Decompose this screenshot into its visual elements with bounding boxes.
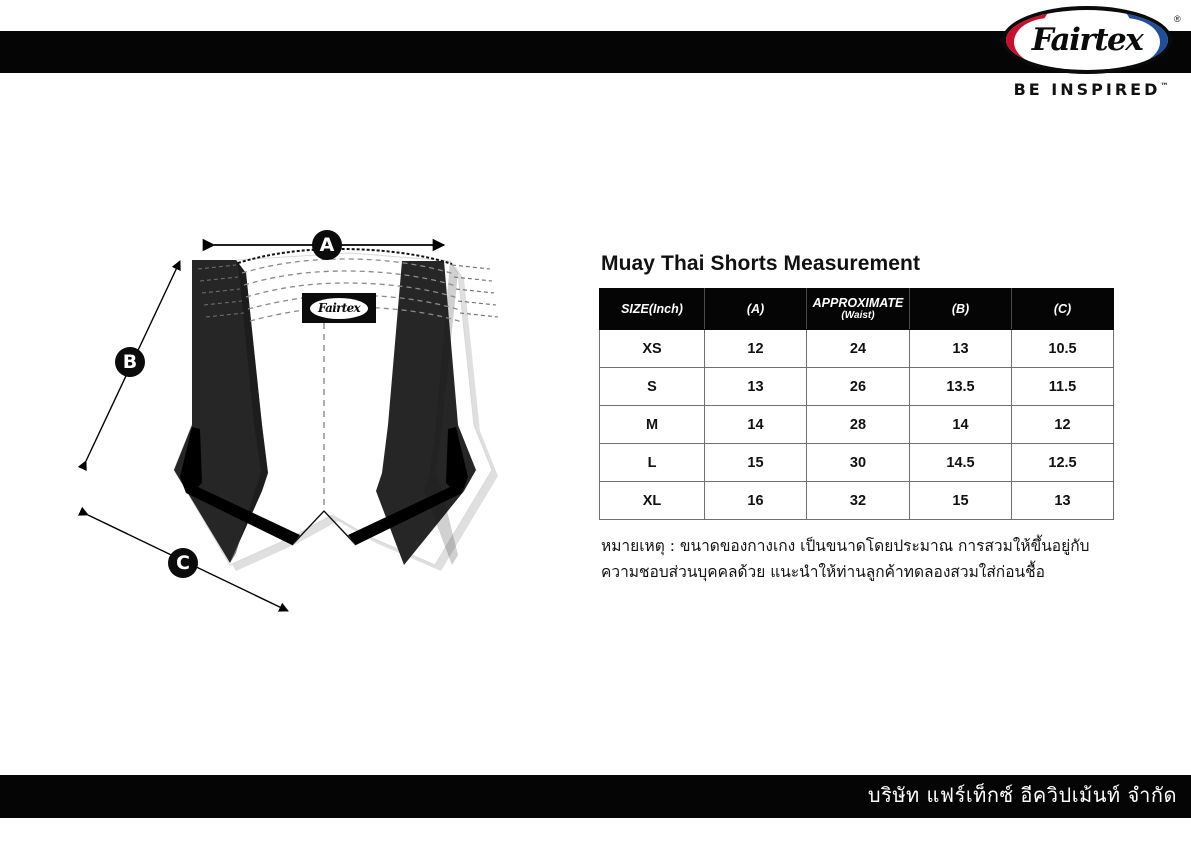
cell-b: 15 [910, 482, 1012, 520]
cell-b: 14.5 [910, 444, 1012, 482]
cell-c: 12.5 [1012, 444, 1114, 482]
column-header-b-label: (B) [952, 302, 969, 316]
cell-approximate: 26 [807, 368, 910, 406]
table-row: L 15 30 14.5 12.5 [600, 444, 1114, 482]
size-table: SIZE(Inch) (A) APPROXIMATE (Waist) (B) (… [599, 288, 1114, 520]
cell-approximate: 28 [807, 406, 910, 444]
cell-a: 15 [705, 444, 807, 482]
measurement-panel: Muay Thai Shorts Measurement SIZE(Inch) … [599, 252, 1119, 585]
cell-a: 12 [705, 330, 807, 368]
cell-c: 12 [1012, 406, 1114, 444]
size-note-line-2: ความชอบส่วนบุคคลด้วย แนะนำให้ท่านลูกค้าท… [601, 560, 1119, 586]
cell-size: XS [600, 330, 705, 368]
footer-company-name: บริษัท แฟร์เท็กซ์ อีควิปเม้นท์ จำกัด [868, 779, 1177, 811]
trademark-mark-icon: ™ [1160, 82, 1168, 91]
size-note-line-1: หมายเหตุ : ขนาดของกางเกง เป็นขนาดโดยประม… [601, 534, 1119, 560]
table-header-row: SIZE(Inch) (A) APPROXIMATE (Waist) (B) (… [600, 289, 1114, 330]
size-note: หมายเหตุ : ขนาดของกางเกง เป็นขนาดโดยประม… [601, 534, 1119, 585]
cell-size: S [600, 368, 705, 406]
brand-tagline-text: BE INSPIRED [1014, 80, 1161, 99]
cell-approximate: 32 [807, 482, 910, 520]
column-header-c-label: (C) [1054, 302, 1071, 316]
cell-c: 11.5 [1012, 368, 1114, 406]
registered-mark-icon: ® [1174, 14, 1181, 24]
column-header-approximate-sub: (Waist) [808, 310, 908, 322]
cell-c: 13 [1012, 482, 1114, 520]
shorts-illustration [40, 215, 560, 655]
column-header-approximate-label: APPROXIMATE [813, 296, 904, 310]
table-row: M 14 28 14 12 [600, 406, 1114, 444]
column-header-a-label: (A) [747, 302, 764, 316]
cell-size: M [600, 406, 705, 444]
cell-a: 13 [705, 368, 807, 406]
cell-a: 14 [705, 406, 807, 444]
cell-approximate: 24 [807, 330, 910, 368]
brand-wordmark: Fairtex [1002, 6, 1172, 74]
cell-a: 16 [705, 482, 807, 520]
cell-c: 10.5 [1012, 330, 1114, 368]
table-row: XS 12 24 13 10.5 [600, 330, 1114, 368]
cell-size: L [600, 444, 705, 482]
waistband-logo-oval: Fairtex [310, 298, 368, 319]
column-header-approximate: APPROXIMATE (Waist) [807, 289, 910, 330]
column-header-size: SIZE(Inch) [600, 289, 705, 330]
cell-b: 14 [910, 406, 1012, 444]
fairtex-oval-logo-icon: Fairtex ® [1002, 6, 1172, 74]
page-title: Muay Thai Shorts Measurement [601, 252, 1119, 276]
cell-approximate: 30 [807, 444, 910, 482]
column-header-b: (B) [910, 289, 1012, 330]
shorts-diagram: Fairtex A B C [40, 215, 560, 655]
brand-tagline: BE INSPIRED™ [998, 80, 1184, 99]
cell-b: 13.5 [910, 368, 1012, 406]
column-header-c: (C) [1012, 289, 1114, 330]
dimension-label-c: C [168, 548, 198, 578]
cell-b: 13 [910, 330, 1012, 368]
column-header-size-label: SIZE(Inch) [621, 302, 683, 316]
cell-size: XL [600, 482, 705, 520]
table-row: XL 16 32 15 13 [600, 482, 1114, 520]
waistband-logo-text: Fairtex [318, 301, 360, 315]
dimension-label-a: A [312, 230, 342, 260]
size-chart-page: Fairtex ® BE INSPIRED™ [0, 0, 1191, 842]
column-header-a: (A) [705, 289, 807, 330]
table-row: S 13 26 13.5 11.5 [600, 368, 1114, 406]
fairtex-brand-logo: Fairtex ® BE INSPIRED™ [988, 4, 1188, 108]
dimension-label-b: B [115, 347, 145, 377]
waistband-logo-patch: Fairtex [302, 293, 376, 323]
